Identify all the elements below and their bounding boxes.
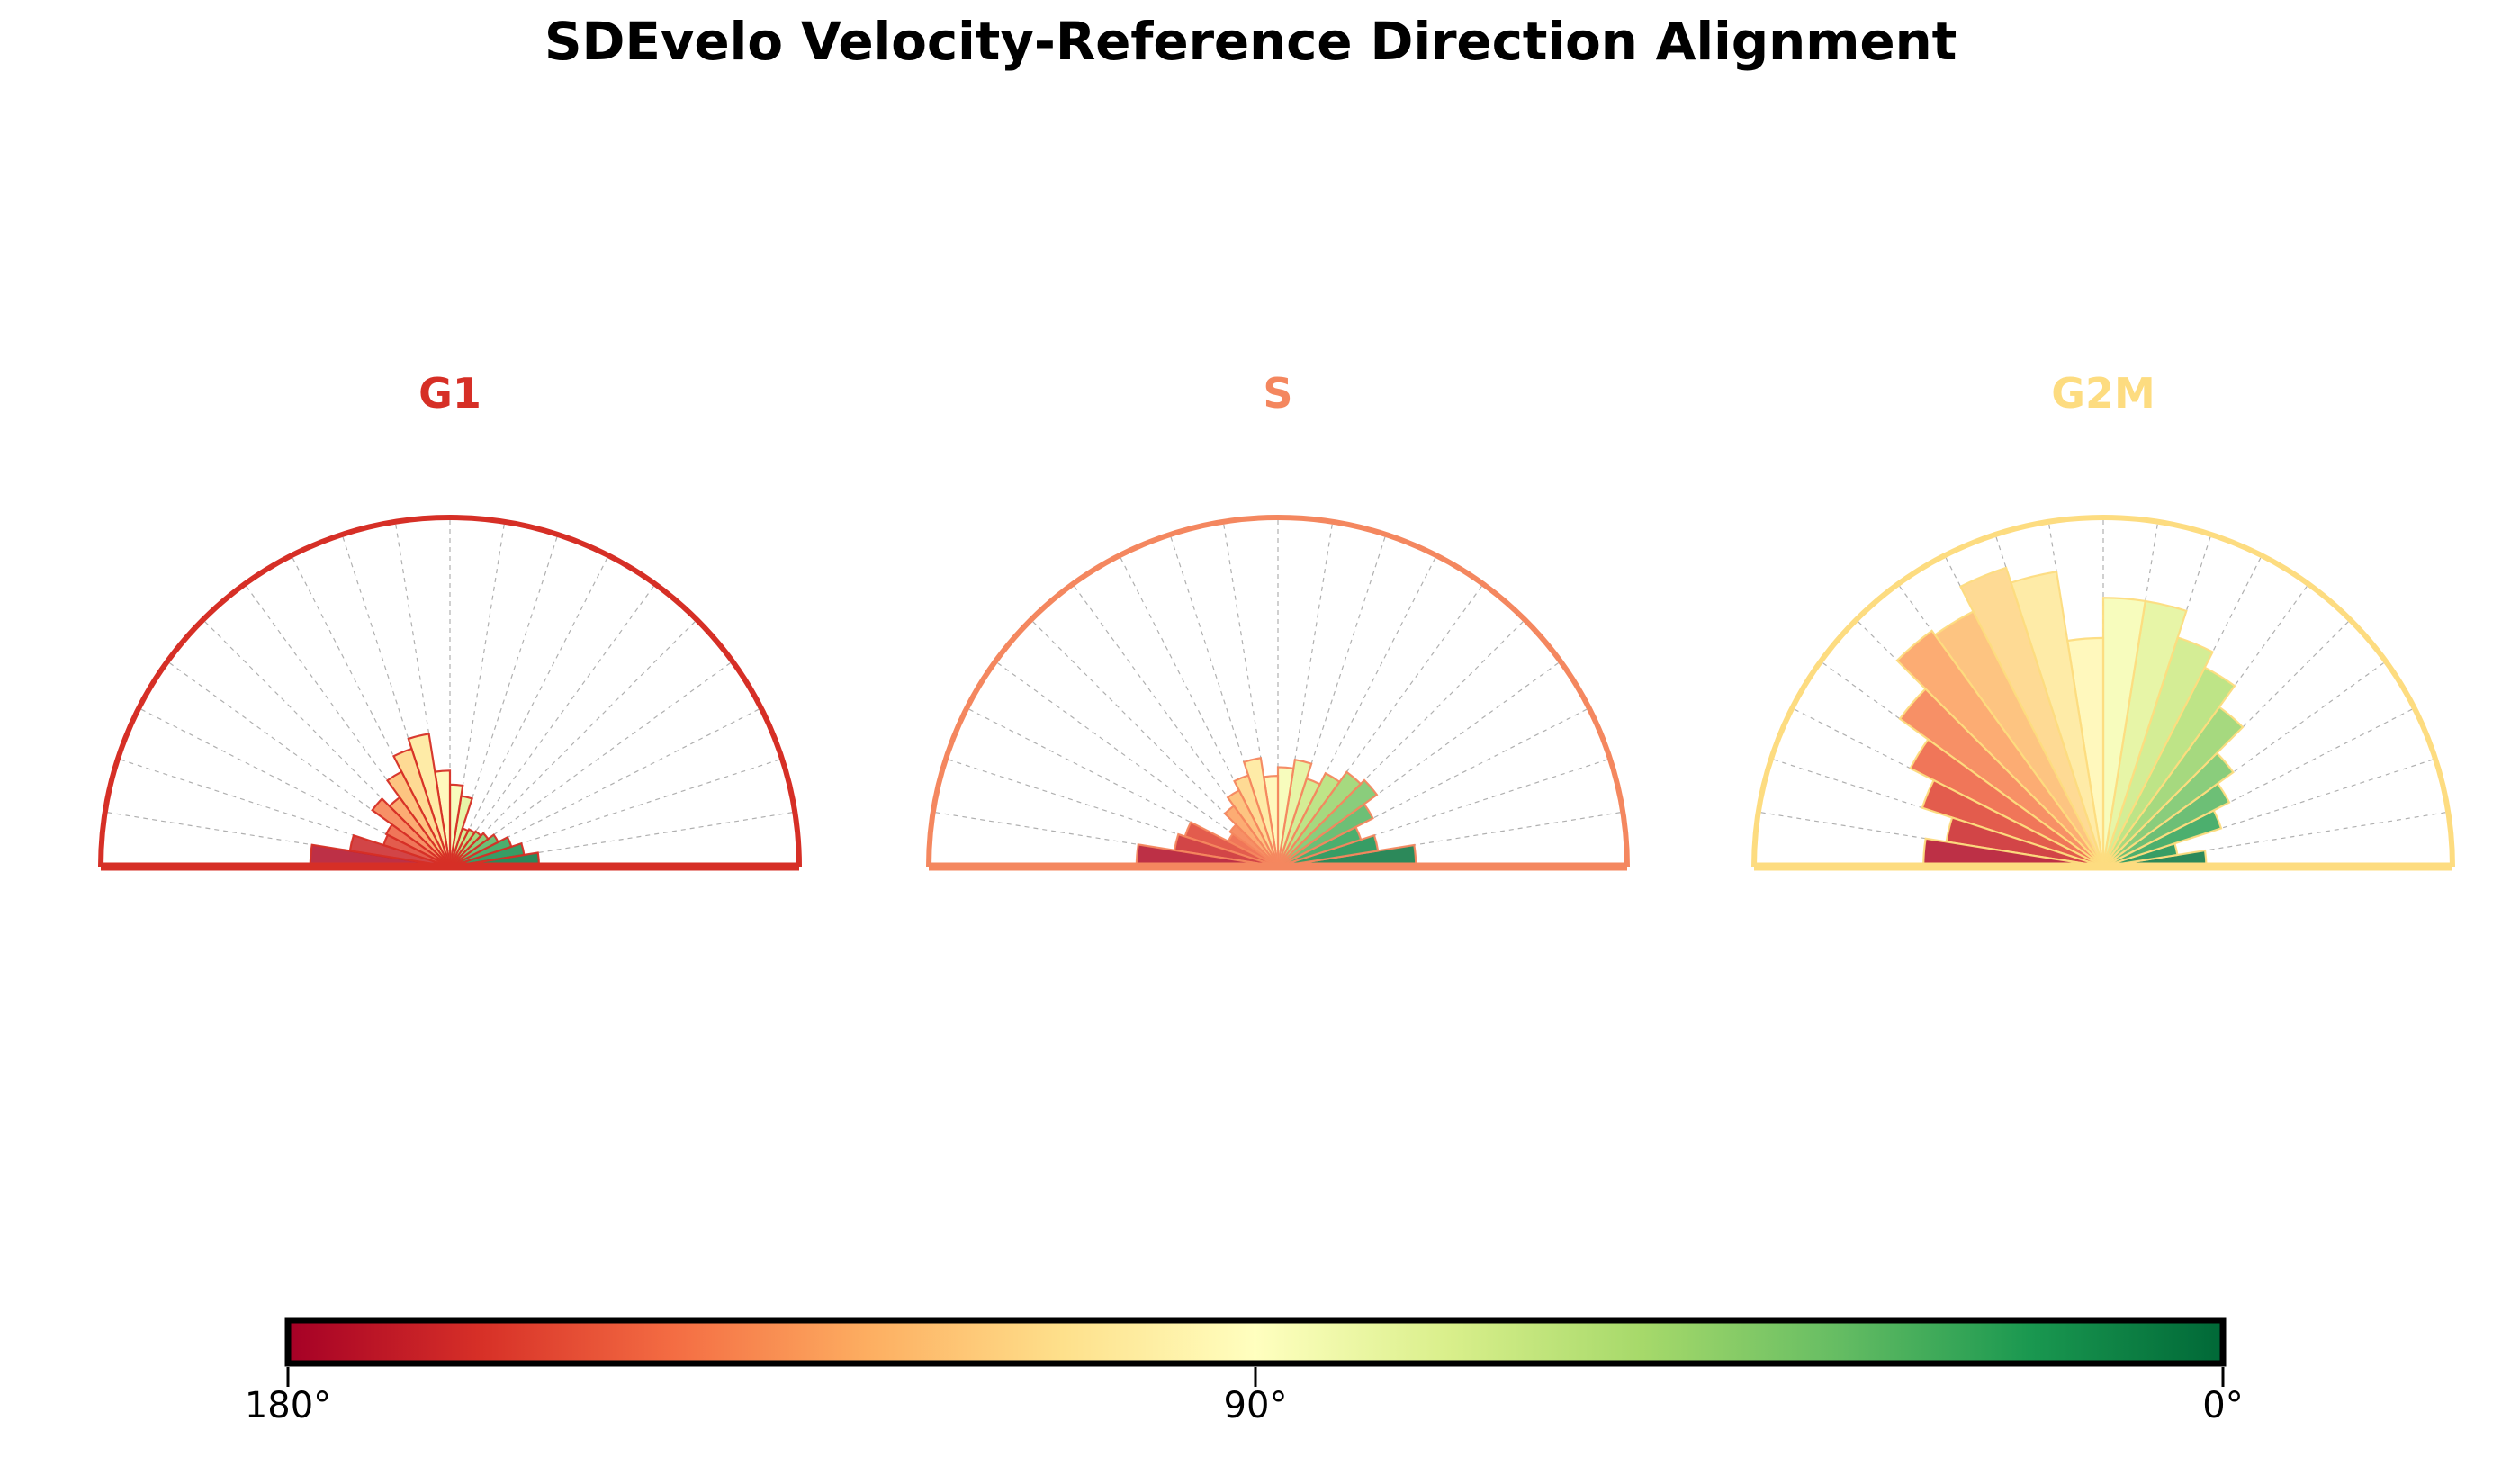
colorbar-tick-180: 180° — [245, 1385, 331, 1426]
polar-axes-s — [929, 517, 1627, 867]
polar-plots-layer — [0, 0, 2501, 1480]
colorbar-tick-0: 0° — [2202, 1385, 2243, 1426]
figure-canvas: SDEvelo Velocity-Reference Direction Ali… — [0, 0, 2501, 1480]
colorbar: 180° 90° 0° — [0, 1309, 2501, 1480]
polar-gridline — [450, 584, 655, 867]
colorbar-bar — [288, 1320, 2223, 1363]
polar-gridline — [450, 555, 608, 867]
colorbar-tick-90: 90° — [1224, 1385, 1288, 1426]
polar-gridline — [450, 620, 697, 867]
polar-axes-g1 — [101, 517, 799, 867]
polar-axes-g2m — [1754, 517, 2452, 867]
